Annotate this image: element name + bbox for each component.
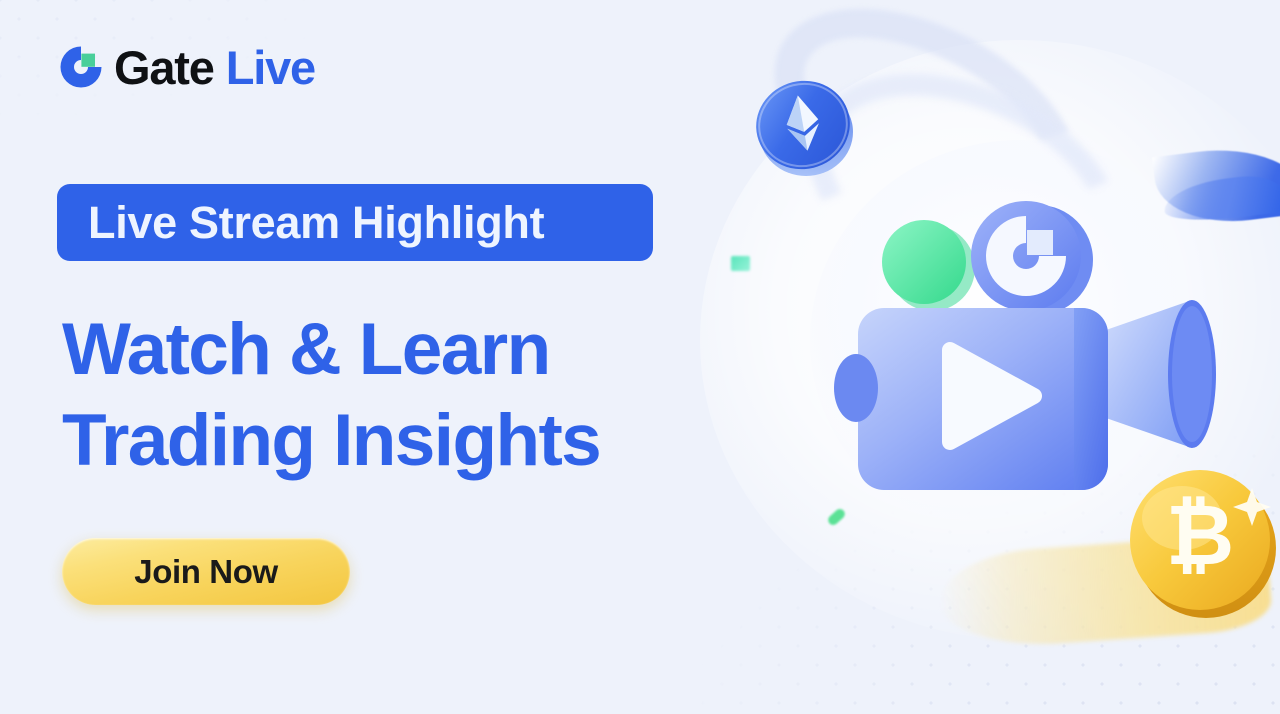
headline-line-1: Watch & Learn <box>62 309 550 390</box>
live-stream-highlight-badge: Live Stream Highlight <box>57 184 653 261</box>
gate-live-logo[interactable]: GateLive <box>55 41 315 93</box>
logo-product-text: Live <box>226 41 315 94</box>
ethereum-coin-icon <box>749 70 861 182</box>
hero-illustration: ₿ <box>735 40 1280 640</box>
gate-logo-mark <box>55 41 107 93</box>
page-title: Watch & Learn Trading Insights <box>62 305 600 486</box>
logo-brand-text: Gate <box>114 41 214 94</box>
bitcoin-coin-icon: ₿ <box>1120 460 1280 625</box>
join-now-label: Join Now <box>134 553 277 591</box>
gate-live-promo-banner: GateLive Live Stream Highlight Watch & L… <box>0 0 1280 714</box>
film-reel-green-icon <box>882 220 975 311</box>
camera-rear-knob <box>834 354 878 422</box>
headline-line-2: Trading Insights <box>62 396 600 487</box>
film-reel-gate-logo-icon <box>971 201 1093 315</box>
badge-label: Live Stream Highlight <box>88 197 544 249</box>
join-now-button[interactable]: Join Now <box>62 538 350 605</box>
svg-text:₿: ₿ <box>1166 488 1234 582</box>
